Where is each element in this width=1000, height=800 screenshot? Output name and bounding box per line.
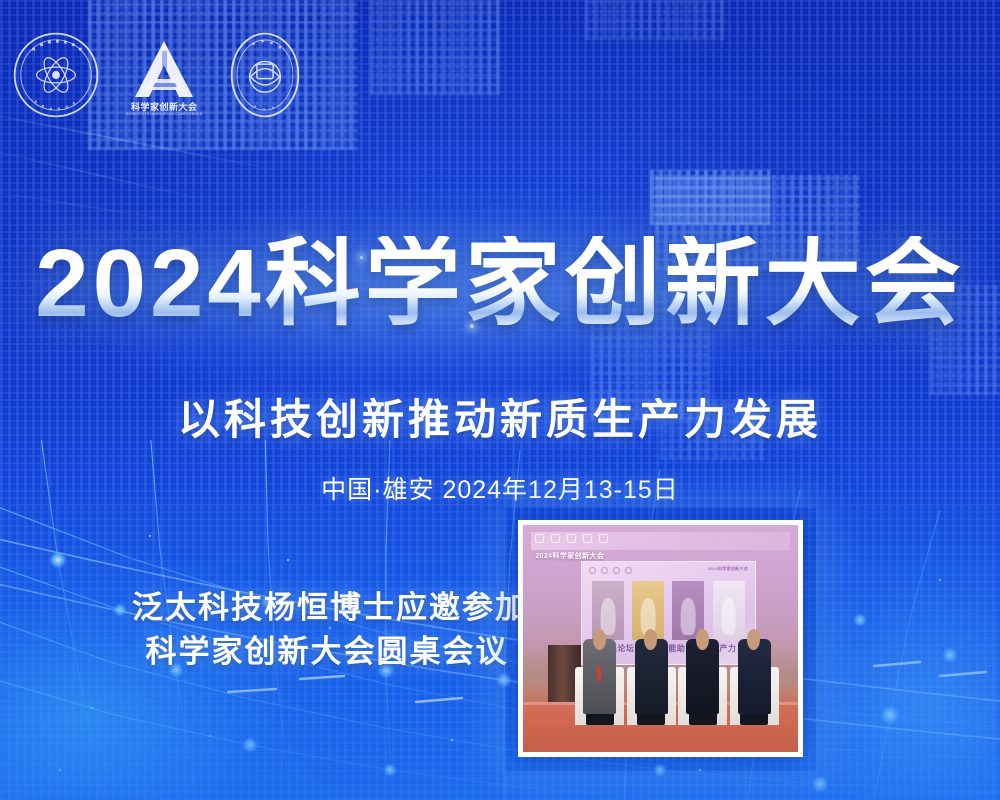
background-light-ray — [0, 146, 227, 205]
logo-row: 科学家创新大会 SCIENTISTS INNOVATION CONFERENCE — [12, 30, 301, 125]
torso — [635, 639, 668, 714]
triangle-logo-sublabel: SCIENTISTS INNOVATION CONFERENCE — [126, 113, 203, 117]
page-title: 2024科学家创新大会 — [0, 236, 1000, 332]
screen-icon — [625, 567, 632, 574]
photo-venue-banner: 2024科学家创新大会 — [531, 532, 790, 550]
panelist — [578, 620, 622, 724]
banner-icon — [535, 534, 544, 543]
head — [747, 629, 760, 650]
conference-triangle-logo: 科学家创新大会 SCIENTISTS INNOVATION CONFERENCE — [126, 39, 203, 117]
head — [696, 629, 709, 650]
cast-seal-logo — [12, 31, 100, 124]
panelist — [732, 620, 776, 724]
triangle-a-icon — [131, 39, 197, 101]
caption-line-2: 科学家创新大会圆桌会议 — [132, 630, 522, 674]
torso — [738, 639, 771, 714]
screen-icon — [613, 567, 620, 574]
banner-icon — [599, 534, 608, 543]
background-data-block — [650, 170, 770, 225]
banner-icon — [567, 534, 576, 543]
head — [644, 629, 657, 650]
banner-icon — [551, 534, 560, 543]
background-data-block — [370, 0, 500, 95]
event-photo-frame: 2024科学家创新大会 2024科学家创新大会 圆桌论坛：人工智能助力新质生产力 — [518, 520, 803, 757]
photo-banner-icons — [535, 534, 608, 543]
caption-block: 泛太科技杨恒博士应邀参加 科学家创新大会圆桌会议 — [132, 586, 522, 674]
caption-line-1: 泛太科技杨恒博士应邀参加 — [132, 586, 522, 630]
conference-poster: 科学家创新大会 SCIENTISTS INNOVATION CONFERENCE — [0, 0, 1000, 800]
background-light-ray — [0, 189, 179, 221]
triangle-logo-caption: 科学家创新大会 SCIENTISTS INNOVATION CONFERENCE — [126, 103, 203, 117]
screen-icon — [589, 567, 596, 574]
triangle-logo-label: 科学家创新大会 — [126, 103, 203, 112]
event-photo: 2024科学家创新大会 2024科学家创新大会 圆桌论坛：人工智能助力新质生产力 — [523, 525, 798, 752]
banner-icon — [583, 534, 592, 543]
dateline: 中国·雄安 2024年12月13-15日 — [0, 470, 1000, 506]
badge-lanyard — [597, 666, 600, 681]
screen-icon — [601, 567, 608, 574]
photo-screen-icons — [589, 567, 632, 574]
panelist — [681, 620, 725, 724]
torso — [686, 639, 719, 714]
background-data-block — [585, 0, 725, 40]
photo-banner-text: 2024科学家创新大会 — [535, 551, 604, 561]
panelist — [629, 620, 673, 724]
partner-oval-seal-logo — [229, 30, 301, 125]
photo-screen-brand: 2024科学家创新大会 — [708, 566, 748, 572]
page-subtitle: 以科技创新推动新质生产力发展 — [0, 386, 1000, 447]
head — [593, 629, 606, 650]
photo-panelists — [578, 620, 776, 724]
